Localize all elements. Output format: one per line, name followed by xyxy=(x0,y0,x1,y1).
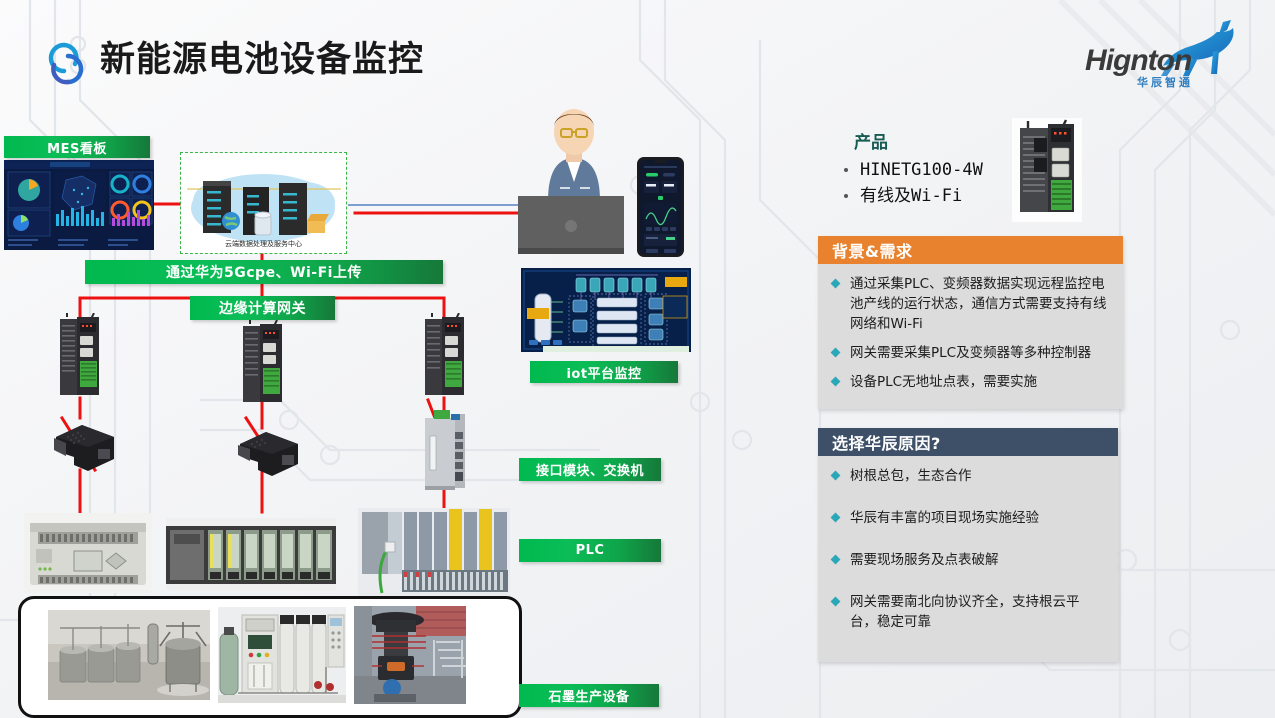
page-title: 新能源电池设备监控 xyxy=(100,36,424,84)
engineer-at-laptop-illustration xyxy=(528,96,620,201)
reactor-vessels-photo[interactable] xyxy=(48,610,210,700)
diamond-bullet-icon xyxy=(831,597,841,607)
diamond-bullet-icon xyxy=(831,513,841,523)
banner-upload-5g-wifi[interactable]: 通过华为5Gcpe、Wi-Fi上传 xyxy=(85,260,443,284)
reason-text: 树根总包，生态合作 xyxy=(850,468,972,484)
banner-plc[interactable]: PLC xyxy=(519,539,661,562)
product-block: 产品 HINETG100-4W 有线及Wi-Fi xyxy=(838,128,1018,209)
panel-title-why: 选择华辰原因? xyxy=(818,428,1118,456)
diamond-bullet-icon xyxy=(831,279,841,289)
banner-iot-platform[interactable]: iot平台监控 xyxy=(530,361,678,383)
interface-module-1[interactable] xyxy=(44,413,124,483)
laptop-illustration[interactable] xyxy=(518,196,624,254)
iot-scada-screenshot[interactable] xyxy=(521,268,691,352)
reason-item: 树根总包，生态合作 xyxy=(828,466,1106,486)
cloud-caption: 云端数据处理及服务中心 xyxy=(181,239,346,249)
edge-gateway-2[interactable] xyxy=(240,320,285,405)
reason-item: 网关需要南北向协议齐全，支持根云平台，稳定可靠 xyxy=(828,592,1106,632)
logo-wordmark: Hignton xyxy=(1085,44,1191,78)
requirement-item: 设备PLC无地址点表，需要实施 xyxy=(828,372,1111,392)
slide-header: 新能源电池设备监控 Hignton 华辰智通 xyxy=(0,0,1275,108)
reason-text: 网关需要南北向协议齐全，支持根云平台，稳定可靠 xyxy=(850,594,1080,630)
slide-canvas: 新能源电池设备监控 Hignton 华辰智通 MES看板 xyxy=(0,0,1275,718)
product-title: 产品 xyxy=(854,128,1018,153)
plc-rack-s7[interactable] xyxy=(358,508,510,598)
diamond-bullet-icon xyxy=(831,471,841,481)
water-treatment-skid-photo[interactable] xyxy=(218,607,346,703)
requirement-item: 通过采集PLC、变频器数据实现远程监控电池产线的运行状态，通信方式需要支持有线网… xyxy=(828,274,1111,334)
product-item: 有线及Wi-Fi xyxy=(838,183,1018,209)
reason-text: 华辰有丰富的项目现场实施经验 xyxy=(850,510,1039,526)
plc-rack-siemens[interactable] xyxy=(166,518,336,590)
reason-item: 需要现场服务及点表破解 xyxy=(828,550,1106,570)
edge-gateway-1[interactable] xyxy=(57,313,102,398)
reason-text: 需要现场服务及点表破解 xyxy=(850,552,999,568)
interface-module-2[interactable] xyxy=(228,420,308,488)
plc-compact[interactable] xyxy=(24,513,152,593)
banner-graphite-equipment[interactable]: 石墨生产设备 xyxy=(519,684,659,707)
smartphone-dashboard-screenshot[interactable] xyxy=(637,157,684,257)
product-list: HINETG100-4W 有线及Wi-Fi xyxy=(838,157,1018,209)
requirement-text: 设备PLC无地址点表，需要实施 xyxy=(850,374,1037,390)
reason-item: 华辰有丰富的项目现场实施经验 xyxy=(828,508,1106,528)
hinetg100-gateway-photo[interactable] xyxy=(1012,118,1082,222)
panel-body-background: 通过采集PLC、变频器数据实现远程监控电池产线的运行状态，通信方式需要支持有线网… xyxy=(818,264,1123,409)
requirement-item: 网关需要采集PLC及变频器等多种控制器 xyxy=(828,343,1111,363)
cloud-datacenter-box[interactable]: 云端数据处理及服务中心 xyxy=(180,152,347,254)
diamond-bullet-icon xyxy=(831,555,841,565)
requirement-text: 通过采集PLC、变频器数据实现远程监控电池产线的运行状态，通信方式需要支持有线网… xyxy=(850,276,1107,332)
requirement-text: 网关需要采集PLC及变频器等多种控制器 xyxy=(850,345,1091,361)
product-item: HINETG100-4W xyxy=(838,157,1018,183)
graphite-furnace-photo[interactable] xyxy=(354,606,466,704)
panel-title-background: 背景&需求 xyxy=(818,236,1123,264)
panel-body-why: 树根总包，生态合作 华辰有丰富的项目现场实施经验 需要现场服务及点表破解 网关需… xyxy=(818,456,1118,662)
diamond-bullet-icon xyxy=(831,377,841,387)
edge-gateway-3[interactable] xyxy=(422,313,467,398)
why-choose-panel: 选择华辰原因? 树根总包，生态合作 华辰有丰富的项目现场实施经验 需要现场服务及… xyxy=(818,428,1118,662)
diamond-bullet-icon xyxy=(831,348,841,358)
banner-mes-dashboard[interactable]: MES看板 xyxy=(4,136,150,158)
logo-chinese-name: 华辰智通 xyxy=(1137,74,1193,90)
mes-dashboard-screenshot[interactable] xyxy=(4,160,154,250)
interlocking-circles-icon xyxy=(40,38,90,88)
ethernet-switch[interactable] xyxy=(419,408,469,493)
banner-edge-gateway[interactable]: 边缘计算网关 xyxy=(190,296,335,320)
company-logo: Hignton 华辰智通 xyxy=(1085,22,1245,92)
background-requirements-panel: 背景&需求 通过采集PLC、变频器数据实现远程监控电池产线的运行状态，通信方式需… xyxy=(818,236,1123,409)
banner-interface-switch[interactable]: 接口模块、交换机 xyxy=(519,458,661,481)
